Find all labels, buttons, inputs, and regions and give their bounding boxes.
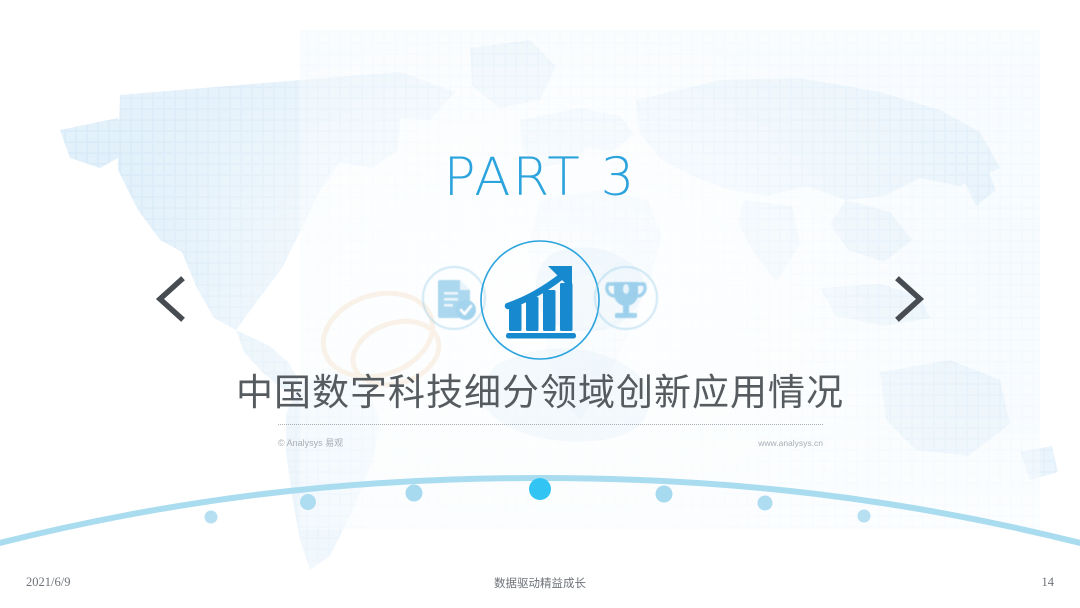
footer-page-number: 14 [1042, 575, 1055, 590]
progress-dot [205, 511, 218, 524]
part-label: PART 3 [0, 149, 1080, 207]
copyright-text: © Analysys 易观 [278, 436, 343, 449]
dotted-divider [278, 424, 823, 426]
progress-dot [300, 494, 316, 510]
section-title: 中国数字科技细分领域创新应用情况 [0, 371, 1080, 415]
progress-arc [0, 462, 1080, 552]
footer-slogan: 数据驱动精益成长 [0, 575, 1080, 591]
website-url: www.analysys.cn [758, 438, 823, 448]
footer: 2021/6/9 数据驱动精益成长 14 [0, 575, 1080, 597]
progress-dots [205, 478, 871, 524]
chevron-right-icon[interactable] [884, 270, 932, 328]
trophy-icon [590, 262, 662, 334]
icon-cluster [418, 238, 662, 362]
chevron-left-icon[interactable] [148, 270, 196, 328]
credit-row: © Analysys 易观 www.analysys.cn [278, 436, 823, 452]
progress-dot-active [529, 478, 551, 500]
progress-dot [758, 496, 773, 511]
arc-line [0, 478, 1080, 548]
progress-dot [656, 486, 673, 503]
progress-dot [406, 485, 423, 502]
bar-chart-growth-icon [478, 238, 602, 362]
slide-root: PART 3 [0, 0, 1080, 608]
progress-dot [858, 510, 871, 523]
